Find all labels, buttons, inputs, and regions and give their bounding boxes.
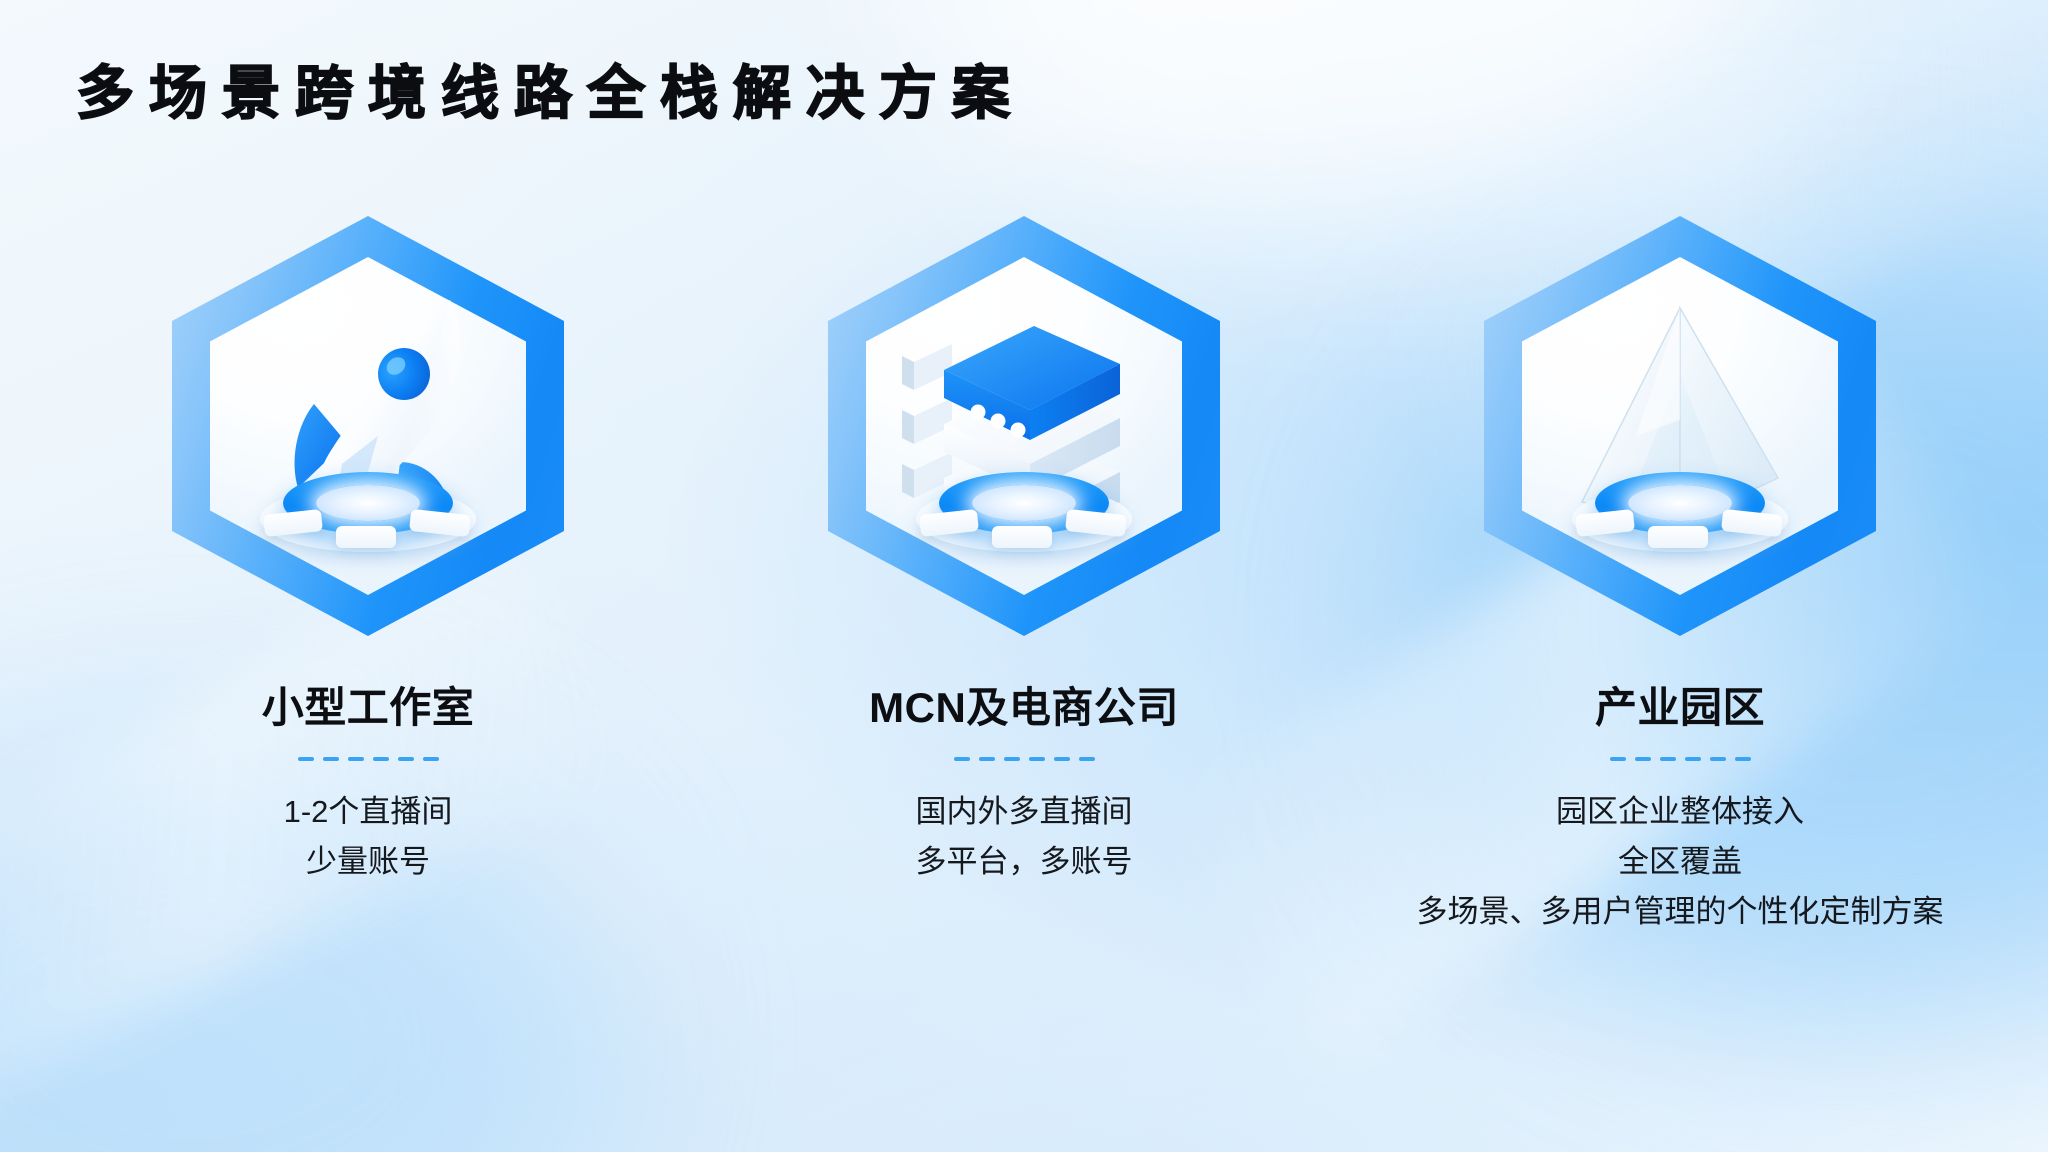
- hexagon-badge: [1480, 216, 1880, 636]
- poster-canvas: 多场景跨境线路全栈解决方案: [0, 0, 2048, 1152]
- card-description: 国内外多直播间 多平台，多账号: [916, 787, 1133, 887]
- hexagon-badge: [168, 216, 568, 636]
- card-title: 小型工作室: [262, 674, 475, 735]
- card-divider: [298, 757, 439, 761]
- card-description-line: 多平台，多账号: [916, 837, 1133, 887]
- card-description-line: 多场景、多用户管理的个性化定制方案: [1417, 887, 1944, 937]
- solution-card[interactable]: MCN及电商公司 国内外多直播间 多平台，多账号: [789, 216, 1259, 938]
- server-stack-3d-icon: [874, 266, 1174, 586]
- hexagon-badge: [824, 216, 1224, 636]
- solution-card[interactable]: 产业园区 园区企业整体接入 全区覆盖 多场景、多用户管理的个性化定制方案: [1445, 216, 1915, 938]
- page-title: 多场景跨境线路全栈解决方案: [76, 62, 1025, 126]
- card-divider: [954, 757, 1095, 761]
- glass-pyramid-3d-icon: [1530, 266, 1830, 586]
- background-glow-top: [900, 0, 1800, 240]
- solution-card[interactable]: 小型工作室 1-2个直播间 少量账号: [133, 216, 603, 938]
- card-description-line: 园区企业整体接入: [1417, 787, 1944, 837]
- card-description-line: 国内外多直播间: [916, 787, 1133, 837]
- card-title: 产业园区: [1595, 674, 1765, 735]
- card-title: MCN及电商公司: [869, 674, 1179, 735]
- card-divider: [1610, 757, 1751, 761]
- card-description: 园区企业整体接入 全区覆盖 多场景、多用户管理的个性化定制方案: [1417, 787, 1944, 938]
- card-description-line: 1-2个直播间: [284, 787, 453, 837]
- card-description-line: 少量账号: [284, 837, 453, 887]
- card-description: 1-2个直播间 少量账号: [284, 787, 453, 887]
- rocket-3d-icon: [218, 266, 518, 586]
- card-description-line: 全区覆盖: [1417, 837, 1944, 887]
- solution-cards-row: 小型工作室 1-2个直播间 少量账号: [0, 216, 2048, 938]
